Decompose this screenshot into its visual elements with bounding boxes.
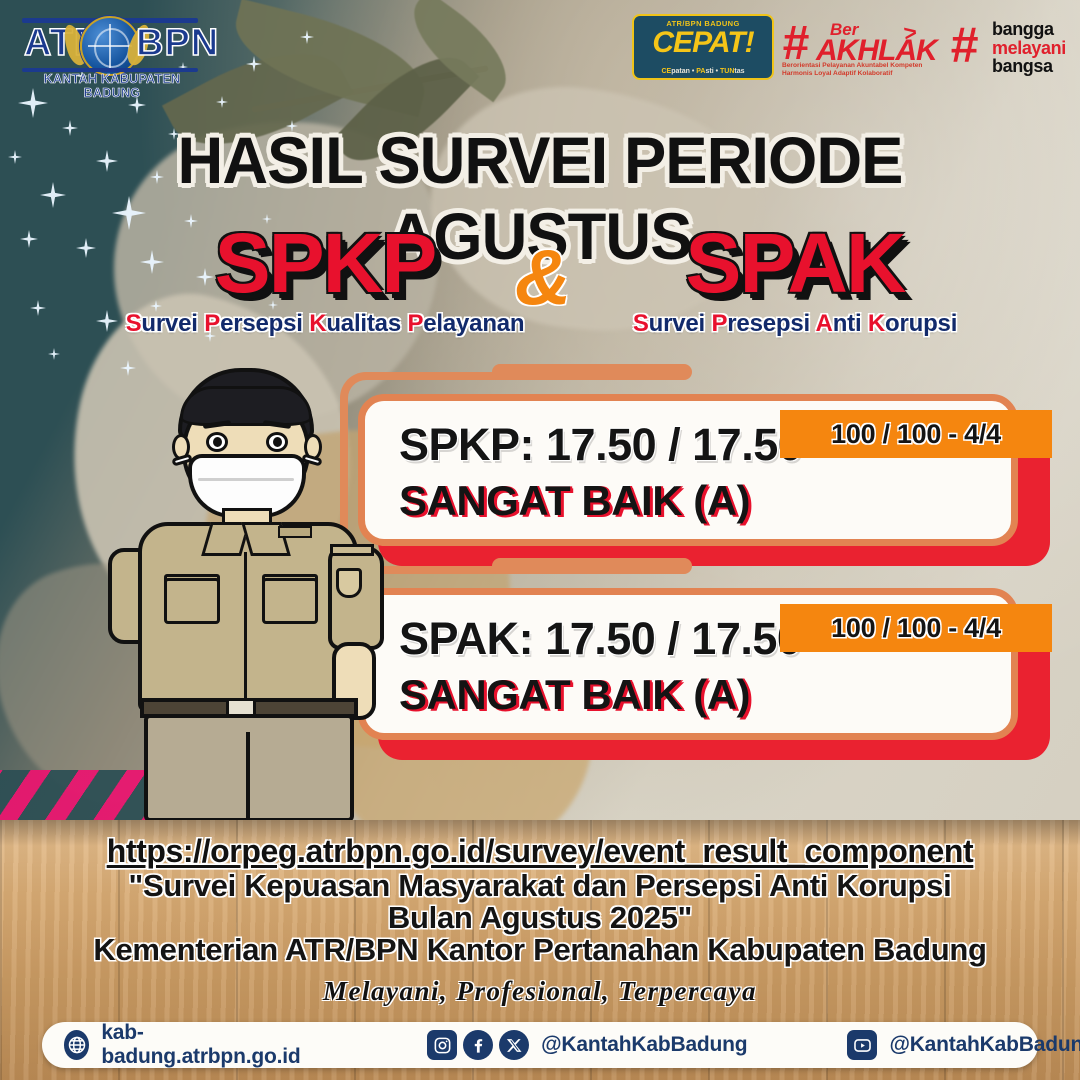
shoulder-patch [336, 568, 362, 598]
spak-badge-label: 100 / 100 - 4/4 [831, 613, 1001, 644]
subtitle-segment: urvei [649, 310, 712, 337]
subtitle-segment: resepsi [727, 310, 815, 337]
spkp-grade: SANGAT BAIK (A) [399, 477, 750, 525]
cepat-logo: ATR/BPN BADUNG CEPAT! CEpatan • PAsti • … [632, 14, 774, 80]
subtitle-segment: P [407, 310, 423, 337]
mask-fold [198, 478, 294, 481]
youtube-icon[interactable] [847, 1030, 877, 1060]
subtitle-segment: P [204, 310, 220, 337]
spkp-subtitle: Survei Persepsi Kualitas Pelayanan [110, 310, 540, 338]
ampersand: & [500, 232, 586, 323]
spak-brand: SPAK Survei Presepsi Anti Korupsi [585, 218, 1005, 338]
spak-score: SPAK: 17.50 / 17.50 [399, 613, 801, 665]
subtitle-segment: K [309, 310, 326, 337]
trouser-seam [246, 732, 250, 822]
decor-bracket-bar [492, 364, 692, 380]
spkp-wordmark: SPKP [110, 218, 540, 308]
hash-icon: # [950, 22, 978, 68]
decor-bracket-bar [492, 558, 692, 574]
spkp-badge-label: 100 / 100 - 4/4 [831, 419, 1001, 450]
atr-subtitle: KANTAH KABUPATEN BADUNG [22, 72, 202, 100]
chevron-right-icon: > [902, 19, 918, 47]
survey-quote-line-2: Bulan Agustus 2025" [0, 900, 1080, 936]
subtitle-segment: ersepsi [220, 310, 309, 337]
survey-brands: SPKP Survei Persepsi Kualitas Pelayanan … [0, 218, 1080, 358]
shirt-placket [244, 552, 247, 710]
website-group[interactable]: kab-badung.atrbpn.go.id [64, 1021, 305, 1069]
youtube-handle-label: @KantahKabBadung [889, 1033, 1080, 1057]
subtitle-segment: S [126, 310, 142, 337]
motto-tagline: Melayani, Profesional, Terpercaya [0, 976, 1080, 1007]
youtube-group[interactable]: @KantahKabBadung [847, 1030, 1080, 1060]
subtitle-segment: P [711, 310, 727, 337]
social-handle-label: @KantahKabBadung [541, 1033, 747, 1057]
spak-subtitle: Survei Presepsi Anti Korupsi [585, 310, 1005, 338]
subtitle-segment: urvei [141, 310, 204, 337]
spkp-brand: SPKP Survei Persepsi Kualitas Pelayanan [110, 218, 540, 338]
poster-root: ATR BPN KANTAH KABUPATEN BADUNG ATR/BPN … [0, 0, 1080, 1080]
pupil [213, 437, 222, 447]
akhlak-values: Berorientasi Pelayanan Akuntabel Kompete… [782, 62, 932, 78]
bpn-text: BPN [136, 22, 219, 65]
website-label: kab-badung.atrbpn.go.id [101, 1021, 305, 1069]
survey-quote-line-1: "Survei Kepuasan Masyarakat dan Persepsi… [0, 868, 1080, 904]
officer-illustration: Survei Kepuasan Masyarakat dan Persepsi … [30, 360, 375, 822]
hash-icon: # [782, 22, 809, 66]
bangga-lines: bangga melayani bangsa [992, 20, 1066, 76]
hair-fringe [180, 386, 312, 426]
subtitle-segment: K [868, 310, 885, 337]
social-handles-group[interactable]: @KantahKabBadung [427, 1030, 747, 1060]
facebook-icon[interactable] [463, 1030, 493, 1060]
survey-url[interactable]: https://orpeg.atrbpn.go.id/survey/event_… [0, 833, 1080, 870]
spak-grade: SANGAT BAIK (A) [399, 671, 750, 719]
subtitle-segment: orupsi [885, 310, 957, 337]
globe-icon [64, 1030, 89, 1060]
rank-insignia [278, 526, 312, 538]
subtitle-segment: nti [833, 310, 868, 337]
instagram-icon[interactable] [427, 1030, 457, 1060]
spkp-score: SPKP: 17.50 / 17.50 [399, 419, 802, 471]
subtitle-segment: S [633, 310, 649, 337]
cepat-tagline: CEpatan • PAsti • TUNtas [634, 68, 772, 75]
epaulet [330, 544, 374, 556]
cepat-wordmark: CEPAT! [634, 28, 772, 58]
subtitle-segment: A [816, 310, 833, 337]
social-bar: kab-badung.atrbpn.go.id @KantahKabBadung [42, 1022, 1038, 1068]
bangga-melayani-bangsa-logo: # bangga melayani bangsa [950, 14, 1070, 76]
atr-bpn-logo: ATR BPN KANTAH KABUPATEN BADUNG [14, 10, 204, 78]
berakhlak-logo: # Ber AKHLAK > Berorientasi Pelayanan Ak… [782, 14, 932, 76]
right-arm [328, 546, 384, 650]
x-twitter-icon[interactable] [499, 1030, 529, 1060]
shirt-pocket [164, 578, 220, 624]
pupil [273, 437, 282, 447]
spak-wordmark: SPAK [585, 218, 1005, 308]
spak-badge: 100 / 100 - 4/4 [780, 604, 1052, 652]
spkp-badge: 100 / 100 - 4/4 [780, 410, 1052, 458]
shirt-pocket [262, 578, 318, 624]
organization-name: Kementerian ATR/BPN Kantor Pertanahan Ka… [0, 932, 1080, 968]
subtitle-segment: ualitas [326, 310, 407, 337]
